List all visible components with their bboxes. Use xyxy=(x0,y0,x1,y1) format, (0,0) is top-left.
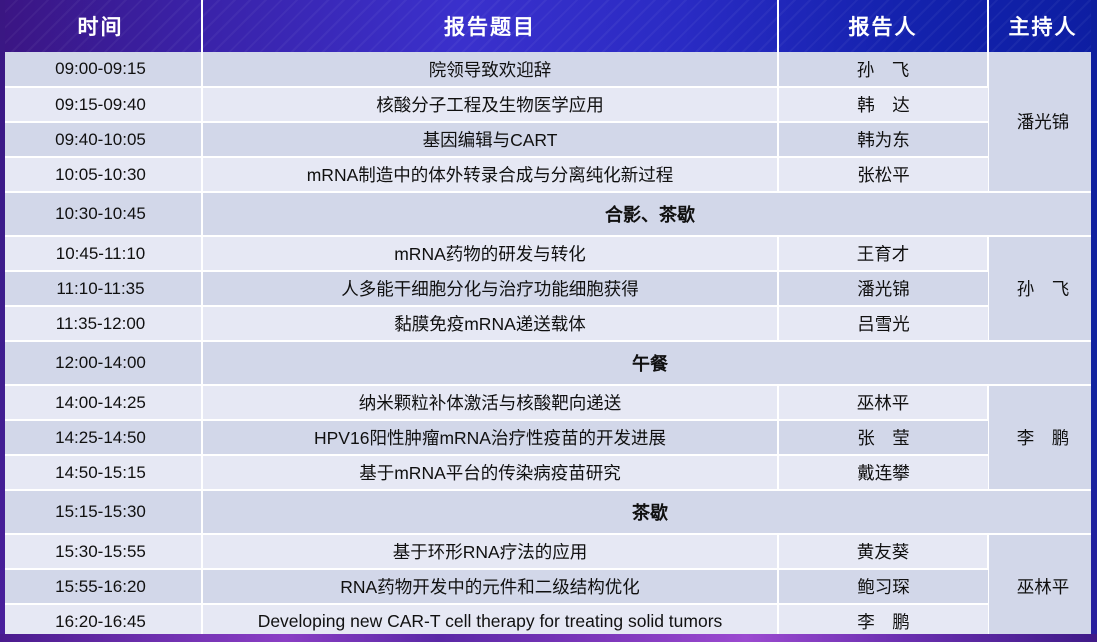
cell-time: 15:15-15:30 xyxy=(0,490,202,534)
cell-speaker: 张松平 xyxy=(778,157,988,192)
table-row: 11:10-11:35人多能干细胞分化与治疗功能细胞获得潘光锦 xyxy=(0,271,1097,306)
cell-time: 14:25-14:50 xyxy=(0,420,202,455)
cell-host: 潘光锦 xyxy=(988,52,1097,192)
cell-speaker: 韩为东 xyxy=(778,122,988,157)
column-header-speaker: 报告人 xyxy=(778,0,988,52)
schedule-table-root: 时间 报告题目 报告人 主持人 09:00-09:15院领导致欢迎辞孙 飞潘光锦… xyxy=(0,0,1097,642)
cell-title: mRNA药物的研发与转化 xyxy=(202,236,778,271)
table-row: 10:45-11:10mRNA药物的研发与转化王育才孙 飞 xyxy=(0,236,1097,271)
cell-time: 09:40-10:05 xyxy=(0,122,202,157)
cell-time: 14:00-14:25 xyxy=(0,385,202,420)
table-row: 14:00-14:25纳米颗粒补体激活与核酸靶向递送巫林平李 鹏 xyxy=(0,385,1097,420)
table-row: 09:15-09:40核酸分子工程及生物医学应用韩 达 xyxy=(0,87,1097,122)
cell-title: 基于mRNA平台的传染病疫苗研究 xyxy=(202,455,778,490)
cell-title: 纳米颗粒补体激活与核酸靶向递送 xyxy=(202,385,778,420)
cell-time: 10:30-10:45 xyxy=(0,192,202,236)
cell-time: 12:00-14:00 xyxy=(0,341,202,385)
break-row: 10:30-10:45合影、茶歇 xyxy=(0,192,1097,236)
cell-time: 09:15-09:40 xyxy=(0,87,202,122)
table-row: 11:35-12:00黏膜免疫mRNA递送载体吕雪光 xyxy=(0,306,1097,341)
cell-title: mRNA制造中的体外转录合成与分离纯化新过程 xyxy=(202,157,778,192)
cell-speaker: 王育才 xyxy=(778,236,988,271)
table-row: 09:40-10:05基因编辑与CART韩为东 xyxy=(0,122,1097,157)
cell-title: HPV16阳性肿瘤mRNA治疗性疫苗的开发进展 xyxy=(202,420,778,455)
break-row: 15:15-15:30茶歇 xyxy=(0,490,1097,534)
bottom-edge-accent xyxy=(0,634,1097,642)
table-row: 15:55-16:20RNA药物开发中的元件和二级结构优化鲍习琛 xyxy=(0,569,1097,604)
cell-title: 基因编辑与CART xyxy=(202,122,778,157)
cell-time: 15:30-15:55 xyxy=(0,534,202,569)
cell-host: 孙 飞 xyxy=(988,236,1097,341)
cell-time: 15:55-16:20 xyxy=(0,569,202,604)
column-header-host: 主持人 xyxy=(988,0,1097,52)
table-row: 10:05-10:30mRNA制造中的体外转录合成与分离纯化新过程张松平 xyxy=(0,157,1097,192)
cell-speaker: 鲍习琛 xyxy=(778,569,988,604)
right-edge-accent xyxy=(1091,0,1097,642)
cell-title: 院领导致欢迎辞 xyxy=(202,52,778,87)
column-header-time: 时间 xyxy=(0,0,202,52)
cell-time: 14:50-15:15 xyxy=(0,455,202,490)
cell-time: 11:35-12:00 xyxy=(0,306,202,341)
left-edge-accent xyxy=(0,0,5,642)
agenda-table: 时间 报告题目 报告人 主持人 09:00-09:15院领导致欢迎辞孙 飞潘光锦… xyxy=(0,0,1097,640)
header-row: 时间 报告题目 报告人 主持人 xyxy=(0,0,1097,52)
column-header-title: 报告题目 xyxy=(202,0,778,52)
cell-title: 基于环形RNA疗法的应用 xyxy=(202,534,778,569)
cell-speaker: 戴连攀 xyxy=(778,455,988,490)
cell-time: 09:00-09:15 xyxy=(0,52,202,87)
cell-time: 10:45-11:10 xyxy=(0,236,202,271)
cell-break-label: 茶歇 xyxy=(202,490,1097,534)
table-row: 15:30-15:55基于环形RNA疗法的应用黄友葵巫林平 xyxy=(0,534,1097,569)
cell-time: 11:10-11:35 xyxy=(0,271,202,306)
cell-time: 10:05-10:30 xyxy=(0,157,202,192)
cell-title: 核酸分子工程及生物医学应用 xyxy=(202,87,778,122)
table-row: 14:25-14:50HPV16阳性肿瘤mRNA治疗性疫苗的开发进展张 莹 xyxy=(0,420,1097,455)
cell-speaker: 孙 飞 xyxy=(778,52,988,87)
cell-speaker: 黄友葵 xyxy=(778,534,988,569)
table-row: 14:50-15:15基于mRNA平台的传染病疫苗研究戴连攀 xyxy=(0,455,1097,490)
cell-break-label: 合影、茶歇 xyxy=(202,192,1097,236)
table-body: 09:00-09:15院领导致欢迎辞孙 飞潘光锦09:15-09:40核酸分子工… xyxy=(0,52,1097,639)
cell-speaker: 吕雪光 xyxy=(778,306,988,341)
table-row: 09:00-09:15院领导致欢迎辞孙 飞潘光锦 xyxy=(0,52,1097,87)
cell-title: 黏膜免疫mRNA递送载体 xyxy=(202,306,778,341)
cell-host: 李 鹏 xyxy=(988,385,1097,490)
cell-speaker: 潘光锦 xyxy=(778,271,988,306)
break-row: 12:00-14:00午餐 xyxy=(0,341,1097,385)
cell-title: RNA药物开发中的元件和二级结构优化 xyxy=(202,569,778,604)
cell-speaker: 韩 达 xyxy=(778,87,988,122)
cell-title: 人多能干细胞分化与治疗功能细胞获得 xyxy=(202,271,778,306)
cell-break-label: 午餐 xyxy=(202,341,1097,385)
cell-speaker: 张 莹 xyxy=(778,420,988,455)
cell-speaker: 巫林平 xyxy=(778,385,988,420)
table-header: 时间 报告题目 报告人 主持人 xyxy=(0,0,1097,52)
cell-host: 巫林平 xyxy=(988,534,1097,639)
